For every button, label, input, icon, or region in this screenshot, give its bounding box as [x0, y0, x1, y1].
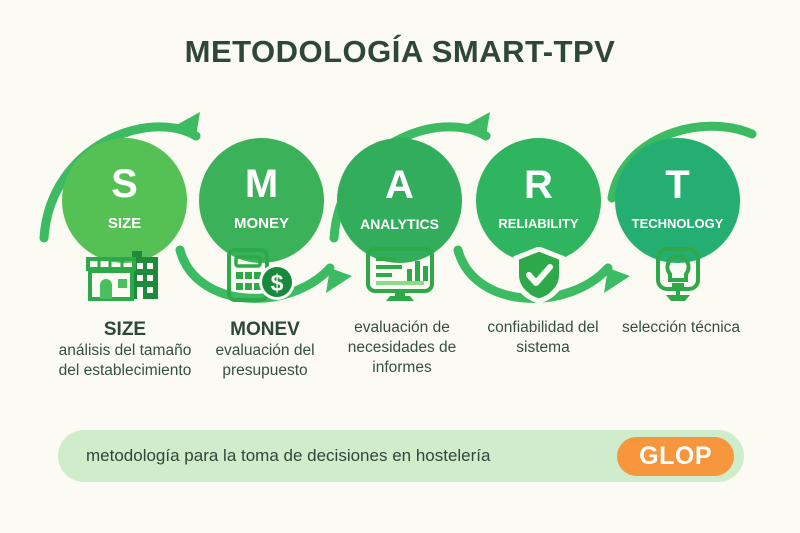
step-circle-size[interactable]: S SIZE: [62, 138, 187, 263]
caption-heading: MONEV: [190, 318, 340, 341]
bottom-banner: metodología para la toma de decisiones e…: [58, 430, 744, 482]
infographic-canvas: METODOLOGÍA SMART-TPV: [0, 0, 800, 533]
step-word: TECHNOLOGY: [632, 217, 724, 230]
shield-check-icon: [512, 247, 566, 303]
step-letter: T: [665, 165, 689, 205]
icon-slot-size: [62, 246, 187, 304]
caption-reliability: confiabilidad del sistema: [468, 318, 618, 358]
caption-technology: selección técnica: [606, 318, 756, 338]
caption-body: confiabilidad del sistema: [468, 318, 618, 358]
monitor-dashboard-icon: [362, 247, 438, 303]
caption-layer: SIZE análisis del tamaño del establecimi…: [0, 318, 800, 418]
step-letter: S: [111, 164, 138, 204]
caption-body: evaluación de necesidades de informes: [326, 318, 478, 377]
caption-analytics: evaluación de necesidades de informes: [326, 318, 478, 377]
banner-text: metodología para la toma de decisiones e…: [86, 446, 490, 466]
step-word: SIZE: [108, 216, 141, 231]
page-title: METODOLOGÍA SMART-TPV: [0, 34, 800, 70]
step-word: RELIABILITY: [498, 217, 578, 230]
step-circle-technology[interactable]: T TECHNOLOGY: [615, 138, 740, 263]
lightbulb-icon: [650, 247, 706, 303]
caption-heading: SIZE: [50, 318, 200, 341]
icon-slot-analytics: [337, 246, 462, 304]
step-letter: A: [385, 165, 414, 205]
step-word: ANALYTICS: [360, 217, 439, 231]
step-circle-reliability[interactable]: R RELIABILITY: [476, 138, 601, 263]
caption-size: SIZE análisis del tamaño del establecimi…: [50, 318, 200, 381]
icon-slot-reliability: [476, 246, 601, 304]
step-letter: R: [524, 165, 553, 205]
icon-layer: $: [0, 246, 800, 306]
glop-brand-badge[interactable]: GLOP: [617, 437, 734, 476]
step-circle-money[interactable]: M MONEY: [199, 138, 324, 263]
step-letter: M: [245, 164, 278, 204]
storefront-icon: [86, 249, 164, 301]
caption-body: evaluación del presupuesto: [190, 341, 340, 381]
icon-slot-money: $: [199, 246, 324, 304]
icon-slot-technology: [615, 246, 740, 304]
step-word: MONEY: [234, 216, 289, 231]
calculator-dollar-icon: $: [225, 248, 299, 302]
svg-text:$: $: [270, 270, 283, 296]
step-circle-analytics[interactable]: A ANALYTICS: [337, 138, 462, 263]
caption-body: selección técnica: [606, 318, 756, 338]
caption-body: análisis del tamaño del establecimiento: [50, 341, 200, 381]
caption-money: MONEV evaluación del presupuesto: [190, 318, 340, 381]
